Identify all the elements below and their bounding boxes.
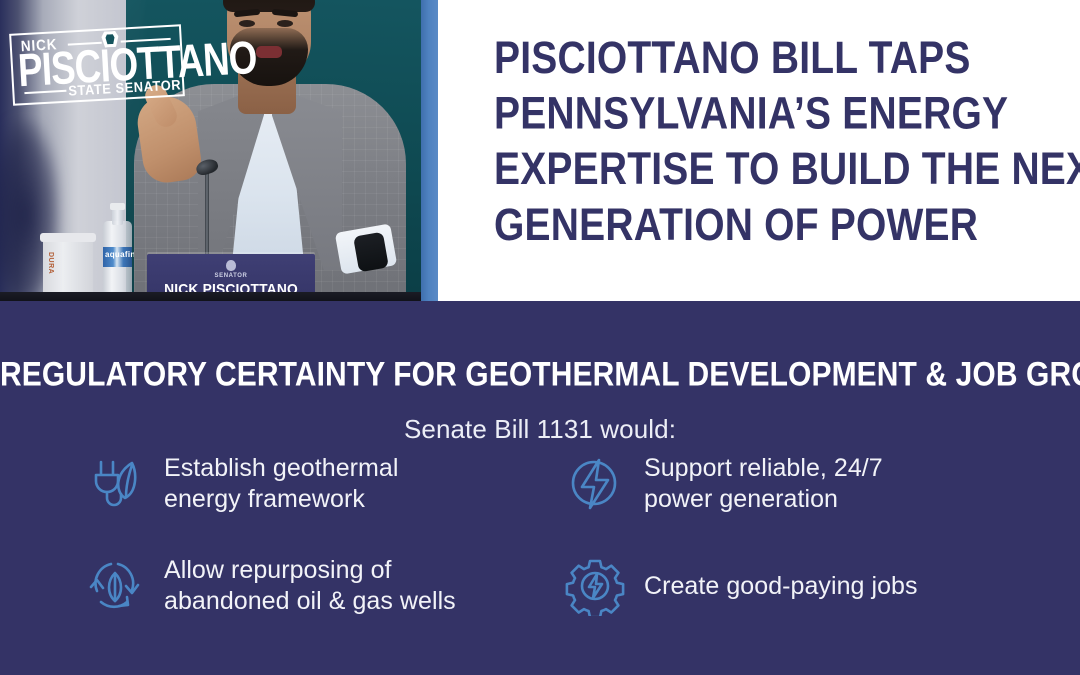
bullet-item: Establish geothermal energy framework xyxy=(84,453,554,515)
bullet-item: Create good-paying jobs xyxy=(564,555,1020,617)
poster: DURA aquafina xyxy=(0,0,1080,675)
bullet-text: Establish geothermal energy framework xyxy=(164,453,398,515)
bucket-label: DURA xyxy=(47,252,54,274)
mouth xyxy=(256,46,282,58)
section-subtitle: Senate Bill 1131 would: xyxy=(0,414,1080,445)
headline-line-4: GENERATION OF POWER xyxy=(494,198,1080,254)
campaign-logo: NICK PISCIOTTANO STATE SENATOR xyxy=(9,24,185,105)
eye-right xyxy=(277,20,293,27)
bullet-item: Allow repurposing of abandoned oil & gas… xyxy=(84,555,554,617)
wristwatch xyxy=(353,232,389,273)
bullet-text-line-2: power generation xyxy=(644,484,883,515)
eye-left xyxy=(239,20,255,27)
senator-photo: DURA aquafina xyxy=(0,0,421,301)
bullet-text-line-1: Create good-paying jobs xyxy=(644,571,918,602)
page-title: PISCIOTTANO BILL TAPS PENNSYLVANIA’S ENE… xyxy=(494,31,1080,254)
bullet-text: Create good-paying jobs xyxy=(644,571,918,602)
bullet-text-line-1: Establish geothermal xyxy=(164,453,398,484)
plug-leaf-icon xyxy=(84,453,146,515)
trash-bucket-rim xyxy=(40,233,96,242)
bullet-text-line-1: Allow repurposing of xyxy=(164,555,456,586)
headline-line-3: EXPERTISE TO BUILD THE NEXT xyxy=(494,142,1080,198)
state-seal-icon xyxy=(226,260,236,271)
nameplate-kicker: SENATOR xyxy=(147,273,315,279)
desk-surface xyxy=(0,292,421,301)
lightning-bolt-circle-icon xyxy=(564,453,626,515)
recycle-leaf-icon xyxy=(84,555,146,617)
bullet-text-line-2: abandoned oil & gas wells xyxy=(164,586,456,617)
headline-line-2: PENNSYLVANIA’S ENERGY xyxy=(494,87,1080,143)
bullet-text: Allow repurposing of abandoned oil & gas… xyxy=(164,555,456,617)
bullet-text-line-1: Support reliable, 24/7 xyxy=(644,453,883,484)
section-title: REGULATORY CERTAINTY FOR GEOTHERMAL DEVE… xyxy=(0,356,1080,395)
gear-bolt-icon xyxy=(564,555,626,617)
bullet-text-line-2: energy framework xyxy=(164,484,398,515)
bottom-band: REGULATORY CERTAINTY FOR GEOTHERMAL DEVE… xyxy=(0,301,1080,675)
top-band: DURA aquafina xyxy=(0,0,1080,301)
bullet-grid: Establish geothermal energy framework Su… xyxy=(80,453,1020,653)
headline-area: PISCIOTTANO BILL TAPS PENNSYLVANIA’S ENE… xyxy=(438,0,1080,301)
vertical-divider xyxy=(421,0,438,301)
headline-line-1: PISCIOTTANO BILL TAPS xyxy=(494,31,1080,87)
bullet-item: Support reliable, 24/7 power generation xyxy=(564,453,1020,515)
bullet-text: Support reliable, 24/7 power generation xyxy=(644,453,883,515)
